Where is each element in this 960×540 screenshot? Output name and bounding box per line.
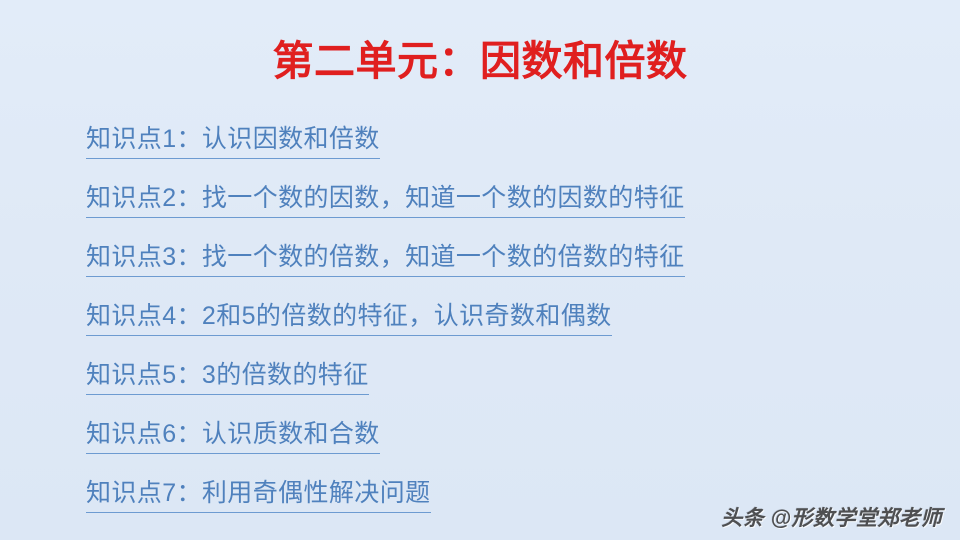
- knowledge-point-label: 知识点2：找一个数的因数，知道一个数的因数的特征: [86, 180, 685, 218]
- knowledge-point-label: 知识点6：认识质数和合数: [86, 416, 380, 454]
- knowledge-point-label: 知识点7：利用奇偶性解决问题: [86, 475, 431, 513]
- page-title-container: 第二单元：因数和倍数: [0, 38, 960, 85]
- knowledge-point-link-3[interactable]: 知识点3：找一个数的倍数，知道一个数的倍数的特征: [86, 239, 916, 277]
- page-title: 第二单元：因数和倍数: [273, 38, 688, 85]
- knowledge-point-label: 知识点3：找一个数的倍数，知道一个数的倍数的特征: [86, 239, 685, 277]
- knowledge-point-link-4[interactable]: 知识点4：2和5的倍数的特征，认识奇数和偶数: [86, 298, 916, 336]
- presentation-slide: 第二单元：因数和倍数 知识点1：认识因数和倍数 知识点2：找一个数的因数，知道一…: [0, 0, 960, 540]
- knowledge-point-link-6[interactable]: 知识点6：认识质数和合数: [86, 416, 916, 454]
- knowledge-point-label: 知识点5：3的倍数的特征: [86, 357, 369, 395]
- knowledge-point-label: 知识点1：认识因数和倍数: [86, 121, 380, 159]
- watermark: 头条 @形数学堂郑老师: [721, 502, 942, 532]
- knowledge-point-label: 知识点4：2和5的倍数的特征，认识奇数和偶数: [86, 298, 612, 336]
- knowledge-point-link-2[interactable]: 知识点2：找一个数的因数，知道一个数的因数的特征: [86, 180, 916, 218]
- knowledge-point-link-5[interactable]: 知识点5：3的倍数的特征: [86, 357, 916, 395]
- knowledge-point-link-1[interactable]: 知识点1：认识因数和倍数: [86, 121, 916, 159]
- knowledge-point-list: 知识点1：认识因数和倍数 知识点2：找一个数的因数，知道一个数的因数的特征 知识…: [86, 121, 916, 513]
